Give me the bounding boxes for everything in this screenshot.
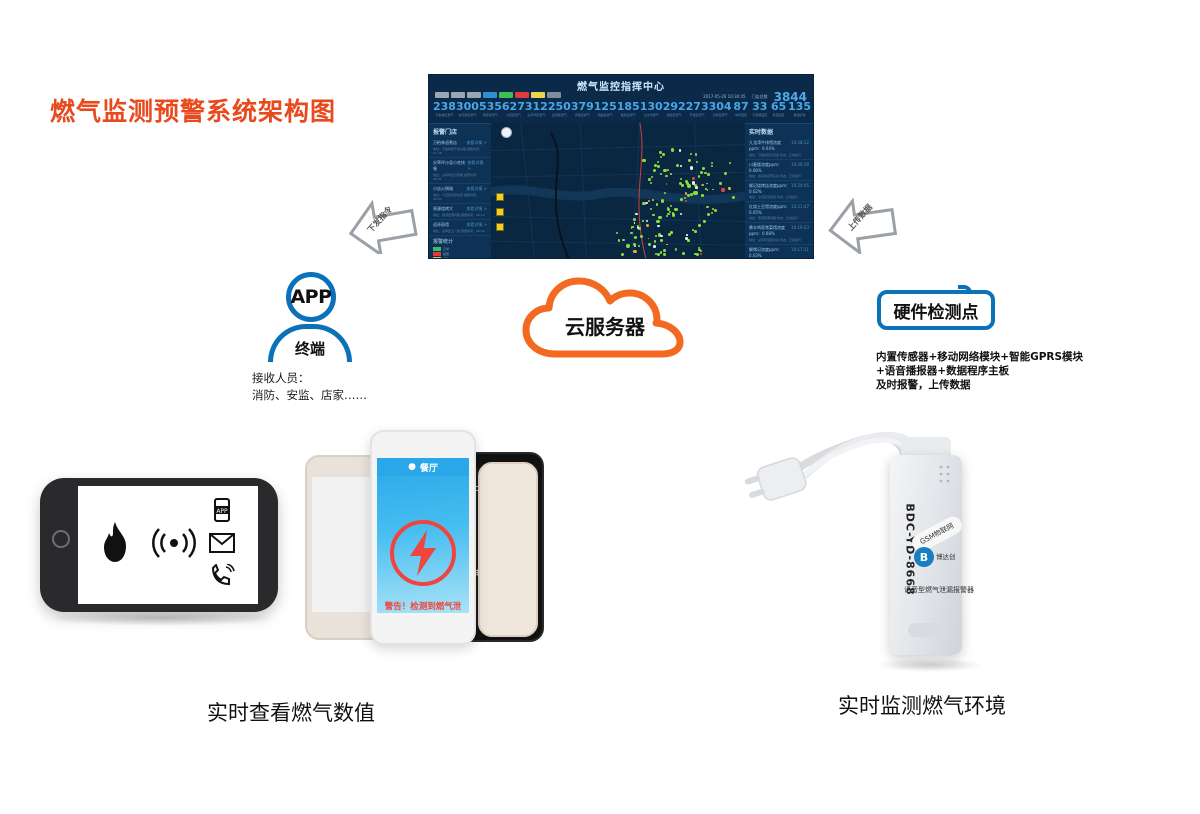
envelope-icon <box>209 533 235 553</box>
map-marker-dot[interactable] <box>664 192 666 194</box>
stat-label: 开发区燃气 <box>686 113 709 118</box>
caption-left: 实时查看燃气数值 <box>207 697 375 727</box>
phone-location-label: 餐厅 <box>420 461 438 474</box>
diagram-canvas: 燃气监测预警系统架构图 燃气监控指挥中心 2017-05-26 10:30:45… <box>0 0 1200 814</box>
map-marker-dot[interactable] <box>721 188 724 191</box>
dashboard-chip-1[interactable] <box>451 92 465 98</box>
alarm-item-title: 尖草坪沙县小吃快餐查看详情 > <box>433 160 487 172</box>
stat-value: 300 <box>456 101 479 113</box>
alarm-item-title: 小店火锅城查看详情 > <box>433 186 487 192</box>
map-marker-dot[interactable] <box>654 240 656 242</box>
dashboard-stat-14[interactable]: 33不锈钢园区 <box>750 101 769 118</box>
caption-right: 实时监测燃气环境 <box>838 690 1006 720</box>
map-marker-dot[interactable] <box>694 191 698 195</box>
realtime-item-detail: 地址：小店区亲贤街 状态：正常运行 <box>749 195 809 199</box>
lightning-bolt-icon <box>394 524 452 582</box>
map-marker-dot[interactable] <box>707 173 710 176</box>
hardware-detection-bubble[interactable]: 硬件检测点 <box>877 290 995 330</box>
dashboard-realtime-panel: 实时数据 九龙湾牛排馆浓度ppm：0.04%10:28:32地址：万柏林区长风街… <box>745 123 813 258</box>
map-marker-dot[interactable] <box>663 249 666 252</box>
stat-label: 阳曲县燃气 <box>594 113 617 118</box>
map-marker-dot[interactable] <box>685 180 688 183</box>
dashboard-stat-10[interactable]: 292综改区燃气 <box>663 101 686 118</box>
dashboard-stat-9[interactable]: 130古交市燃气 <box>640 101 663 118</box>
page-title: 燃气监测预警系统架构图 <box>50 92 336 128</box>
map-marker-dot[interactable] <box>681 184 683 186</box>
alarm-pie-legend: 报警统计 正常报警预警离线 <box>429 236 491 259</box>
stat-value: 312 <box>525 101 548 113</box>
stat-label: 万柏林区燃气 <box>433 113 456 118</box>
stat-label: 高新区燃气 <box>709 113 732 118</box>
map-marker-dot[interactable] <box>687 239 690 242</box>
dashboard-stat-16[interactable]: 135其他区域 <box>788 101 811 118</box>
map-marker-dot[interactable] <box>652 214 654 216</box>
alarm-list-item[interactable]: 尖草坪沙县小吃快餐查看详情 >地址：尖草坪区汾西路 报警时间：08:01 <box>429 158 491 184</box>
map-marker-dot[interactable] <box>674 208 678 212</box>
map-marker-dot[interactable] <box>646 220 648 222</box>
map-marker-dot[interactable] <box>705 188 707 190</box>
stat-label: 学府园区 <box>732 113 751 118</box>
stat-value: 135 <box>788 101 811 113</box>
map-marker-dot[interactable] <box>657 225 659 227</box>
stat-value: 250 <box>548 101 571 113</box>
realtime-item-title: 川客楼浓度ppm：0.06%10:26:19 <box>749 162 809 173</box>
app-terminal-icon[interactable]: APP 终端 <box>268 272 352 362</box>
alarm-item-title: 迎泽面馆查看详情 > <box>433 222 487 228</box>
map-marker-dot[interactable] <box>635 213 637 215</box>
dashboard-stat-2[interactable]: 535晋源区燃气 <box>479 101 502 118</box>
home-button-icon[interactable] <box>52 530 70 548</box>
alarm-item-detail: 地址：尖草坪区汾西路 报警时间：08:01 <box>433 173 487 181</box>
phone-center-alert[interactable]: ● 餐厅 警告！检测到燃气泄漏！ 请检查 <box>370 430 476 645</box>
map-marker-dot[interactable] <box>618 239 620 241</box>
map-marker-dot[interactable] <box>719 182 722 185</box>
map-marker-dot[interactable] <box>670 173 672 175</box>
app-terminal-head-label: APP <box>286 272 336 322</box>
stat-label: 民营园区 <box>769 113 788 118</box>
stat-label: 清徐县燃气 <box>571 113 594 118</box>
map-marker-dot[interactable] <box>630 232 632 234</box>
device-brand-logo-icon: B <box>914 547 934 567</box>
dashboard-stat-12[interactable]: 304高新区燃气 <box>709 101 732 118</box>
stat-label: 迎泽区燃气 <box>548 113 571 118</box>
realtime-list-item[interactable]: 顺记烧烤店浓度ppm：0.02%10:24:05地址：小店区亲贤街 状态：正常运… <box>745 181 813 202</box>
receiver-line-2: 消防、安监、店家…… <box>252 387 367 404</box>
map-marker-dot[interactable] <box>642 220 644 222</box>
left-phone-shadow <box>48 610 278 626</box>
arrow-left-command: 下发指令 <box>346 198 418 254</box>
stat-label: 晋源区燃气 <box>479 113 502 118</box>
alarm-panel-header: 报警门店 <box>429 124 491 138</box>
hardware-desc-line-2: +语音播报器+数据程序主板 <box>876 364 1083 378</box>
realtime-list-item[interactable]: 红烧土豆馆浓度ppm：0.05%10:21:47地址：晋源区晋祠路 状态：正常运… <box>745 202 813 223</box>
receiver-text: 接收人员： 消防、安监、店家…… <box>252 370 367 404</box>
map-marker-dot[interactable] <box>633 243 636 246</box>
device-brand-name: 博达创 <box>936 551 956 561</box>
stat-label: 小店区燃气 <box>502 113 525 118</box>
device-body: BDC-YD-8668 GSM物联网 B 博达创 语音型燃气泄漏报警器 <box>890 455 962 655</box>
dashboard-chip-5[interactable] <box>515 92 529 98</box>
gas-alert-line-2: 请检查 <box>377 612 469 613</box>
dashboard-body: 报警门店 万柏林卤煮店查看详情 >地址：万柏林区千峰北路 报警时间：07:28尖… <box>429 123 813 258</box>
dashboard-map[interactable] <box>491 123 745 258</box>
dashboard-stat-1[interactable]: 300杏花岭区燃气 <box>456 101 479 118</box>
stat-value: 130 <box>640 101 663 113</box>
realtime-item-detail: 地址：杏花岭区府东街 状态：正常运行 <box>749 174 809 178</box>
realtime-list[interactable]: 九龙湾牛排馆浓度ppm：0.04%10:28:32地址：万柏林区长风街 状态：正… <box>745 138 813 259</box>
map-marker-dot[interactable] <box>701 194 704 197</box>
realtime-item-title: 九龙湾牛排馆浓度ppm：0.04%10:28:32 <box>749 140 809 152</box>
realtime-list-item[interactable]: 解馋记浓度ppm：0.03%10:17:11地址：迎泽区桃园路 状态：正常运行 <box>745 245 813 259</box>
map-marker-dot[interactable] <box>694 253 697 256</box>
svg-text:APP: APP <box>216 508 228 515</box>
alarm-item-title: 晋源烧烤大查看详情 > <box>433 206 487 212</box>
alarm-item-detail: 地址：万柏林区千峰北路 报警时间：07:28 <box>433 147 487 155</box>
dashboard-chip-4[interactable] <box>499 92 513 98</box>
map-legend-swatch <box>496 208 504 216</box>
stat-value: 185 <box>617 101 640 113</box>
dashboard-chip-0[interactable] <box>435 92 449 98</box>
alarm-list[interactable]: 万柏林卤煮店查看详情 >地址：万柏林区千峰北路 报警时间：07:28尖草坪沙县小… <box>429 138 491 236</box>
hardware-desc-line-3: 及时报警，上传数据 <box>876 378 1083 392</box>
alarm-item-detail: 地址：小店区亲贤北街 报警时间：08:45 <box>433 193 487 201</box>
map-marker-dot[interactable] <box>653 169 656 172</box>
stat-value: 65 <box>769 101 788 113</box>
pie-legend-entry: 正常 <box>433 247 487 251</box>
realtime-item-title: 顺记烧烤店浓度ppm：0.02%10:24:05 <box>749 183 809 194</box>
pie-legend-entry: 预警 <box>433 257 487 259</box>
gas-detector-device: BDC-YD-8668 GSM物联网 B 博达创 语音型燃气泄漏报警器 <box>735 420 995 670</box>
map-marker-dot[interactable] <box>657 161 659 163</box>
map-marker-dot[interactable] <box>660 239 663 242</box>
map-marker-dot[interactable] <box>655 235 657 237</box>
gas-alert-circle <box>390 520 456 586</box>
stat-label: 不锈钢园区 <box>750 113 769 118</box>
map-legend-swatch <box>496 223 504 231</box>
map-marker-dot[interactable] <box>648 243 651 246</box>
map-marker-dot[interactable] <box>660 251 663 254</box>
realtime-list-item[interactable]: 九龙湾牛排馆浓度ppm：0.04%10:28:32地址：万柏林区长风街 状态：正… <box>745 138 813 160</box>
pie-legend-entry: 报警 <box>433 252 487 256</box>
realtime-panel-header: 实时数据 <box>745 124 813 138</box>
map-marker-dot[interactable] <box>642 202 646 206</box>
map-marker-dot[interactable] <box>633 219 635 221</box>
map-marker-dot[interactable] <box>656 203 658 205</box>
phone-center-screen: ● 餐厅 警告！检测到燃气泄漏！ 请检查 <box>377 458 469 613</box>
dashboard-alarm-panel: 报警门店 万柏林卤煮店查看详情 >地址：万柏林区千峰北路 报警时间：07:28尖… <box>429 123 491 258</box>
map-legend-swatch <box>496 193 504 201</box>
realtime-item-detail: 地址：晋源区晋祠路 状态：正常运行 <box>749 216 809 220</box>
app-phone-icon: APP <box>211 498 233 522</box>
map-marker-dot[interactable] <box>700 253 702 255</box>
hardware-description: 内置传感器+移动网络模块+智能GPRS模块 +语音播报器+数据程序主板 及时报警… <box>876 350 1083 392</box>
map-marker-dot[interactable] <box>702 184 704 186</box>
hardware-desc-line-1: 内置传感器+移动网络模块+智能GPRS模块 <box>876 350 1083 364</box>
alarm-list-item[interactable]: 万柏林卤煮店查看详情 >地址：万柏林区千峰北路 报警时间：07:28 <box>429 138 491 158</box>
alarm-list-item[interactable]: 迎泽面馆查看详情 >地址：迎泽区五一路 报警时间：09:30 <box>429 220 491 236</box>
stat-value: 379 <box>571 101 594 113</box>
dashboard-stat-4[interactable]: 312尖草坪区燃气 <box>525 101 548 118</box>
stat-value: 627 <box>502 101 525 113</box>
flame-icon <box>98 520 132 564</box>
map-marker-dot[interactable] <box>680 165 682 167</box>
map-marker-dot[interactable] <box>680 178 682 180</box>
device-button[interactable] <box>908 623 944 637</box>
map-marker-dot[interactable] <box>656 220 659 223</box>
realtime-item-detail: 地址：尖草坪区柴村街 状态：正常运行 <box>749 238 809 242</box>
map-marker-dot[interactable] <box>700 171 703 174</box>
dashboard-stat-7[interactable]: 125阳曲县燃气 <box>594 101 617 118</box>
stat-value: 87 <box>732 101 751 113</box>
location-pin-icon: ● <box>408 462 416 472</box>
realtime-item-title: 红烧土豆馆浓度ppm：0.05%10:21:47 <box>749 204 809 215</box>
realtime-list-item[interactable]: 川客楼浓度ppm：0.06%10:26:19地址：杏花岭区府东街 状态：正常运行 <box>745 160 813 181</box>
map-marker-dot[interactable] <box>671 148 674 151</box>
map-marker-dot[interactable] <box>648 178 651 181</box>
alarm-list-item[interactable]: 晋源烧烤大查看详情 >地址：晋源区晋祠路 报警时间：09:12 <box>429 204 491 220</box>
landscape-phone-screen: APP <box>78 486 258 604</box>
phone-far-right-gold[interactable] <box>478 462 538 637</box>
dashboard-stat-row: 238万柏林区燃气300杏花岭区燃气535晋源区燃气627小店区燃气312尖草坪… <box>433 101 811 118</box>
map-marker-dot[interactable] <box>666 183 668 185</box>
cloud-server-label: 云服务器 <box>522 276 688 360</box>
alarm-item-detail: 地址：迎泽区五一路 报警时间：09:30 <box>433 229 487 233</box>
alarm-item-detail: 地址：晋源区晋祠路 报警时间：09:12 <box>433 213 487 217</box>
map-marker-dot[interactable] <box>652 199 654 201</box>
map-marker-dot[interactable] <box>663 169 666 172</box>
map-marker-dot[interactable] <box>684 197 686 199</box>
map-marker-dot[interactable] <box>663 253 666 256</box>
stat-value: 273 <box>686 101 709 113</box>
phone-location-header: ● 餐厅 <box>377 458 469 476</box>
map-marker-dot[interactable] <box>657 165 660 168</box>
stat-label: 古交市燃气 <box>640 113 663 118</box>
map-marker-dot[interactable] <box>667 169 669 171</box>
map-marker-dot[interactable] <box>661 199 665 203</box>
map-marker-dot[interactable] <box>686 234 688 236</box>
stat-value: 125 <box>594 101 617 113</box>
app-terminal-body-label: 终端 <box>268 324 352 362</box>
dashboard-stat-6[interactable]: 379清徐县燃气 <box>571 101 594 118</box>
map-marker-dot[interactable] <box>687 184 691 188</box>
stat-label: 杏花岭区燃气 <box>456 113 479 118</box>
stat-label: 综改区燃气 <box>663 113 686 118</box>
realtime-list-item[interactable]: 鼎丰鸡家常菜馆浓度ppm：0.08%10:19:33地址：尖草坪区柴村街 状态：… <box>745 223 813 245</box>
alarm-legend-title: 报警统计 <box>433 238 487 245</box>
receiver-line-1: 接收人员： <box>252 370 367 387</box>
map-marker-dot[interactable] <box>688 159 691 162</box>
stat-value: 238 <box>433 101 456 113</box>
map-marker-dot[interactable] <box>706 206 709 209</box>
ringing-phone-icon <box>209 564 235 588</box>
dashboard-chip-2[interactable] <box>467 92 481 98</box>
map-marker-dot[interactable] <box>680 198 683 201</box>
map-marker-dot[interactable] <box>670 231 673 234</box>
stat-value: 33 <box>750 101 769 113</box>
map-marker-dot[interactable] <box>694 230 697 233</box>
dashboard-stat-8[interactable]: 185娄烦县燃气 <box>617 101 640 118</box>
stat-label: 娄烦县燃气 <box>617 113 640 118</box>
alarm-list-item[interactable]: 小店火锅城查看详情 >地址：小店区亲贤北街 报警时间：08:45 <box>429 184 491 204</box>
dashboard-chip-row <box>435 92 561 98</box>
dashboard-stat-15[interactable]: 65民营园区 <box>769 101 788 118</box>
realtime-item-title: 解馋记浓度ppm：0.03%10:17:11 <box>749 247 809 258</box>
map-marker-dot[interactable] <box>653 245 656 248</box>
dashboard-chip-6[interactable] <box>531 92 545 98</box>
dashboard-stat-3[interactable]: 627小店区燃气 <box>502 101 525 118</box>
stat-label: 尖草坪区燃气 <box>525 113 548 118</box>
map-marker-dot[interactable] <box>711 212 713 214</box>
dashboard-screen: 燃气监控指挥中心 2017-05-26 10:30:45 门店总数 3844 2… <box>428 74 814 259</box>
dashboard-chip-7[interactable] <box>547 92 561 98</box>
realtime-item-detail: 地址：万柏林区长风街 状态：正常运行 <box>749 153 809 157</box>
stat-value: 292 <box>663 101 686 113</box>
device-vent-holes-icon <box>936 463 956 485</box>
stat-value: 304 <box>709 101 732 113</box>
map-marker-dot[interactable] <box>724 172 727 175</box>
map-marker-dot[interactable] <box>672 213 676 217</box>
device-subtitle: 语音型燃气泄漏报警器 <box>904 585 974 595</box>
stat-value: 535 <box>479 101 502 113</box>
dashboard-stat-13[interactable]: 87学府园区 <box>732 101 751 118</box>
signal-waves-icon <box>150 526 198 560</box>
stat-label: 其他区域 <box>788 113 811 118</box>
map-marker-dot[interactable] <box>621 253 624 256</box>
arrow-right-upload: 上传数据 <box>826 198 898 254</box>
alarm-item-title: 万柏林卤煮店查看详情 > <box>433 140 487 146</box>
landscape-phone[interactable]: APP <box>40 478 278 612</box>
dashboard-stat-11[interactable]: 273开发区燃气 <box>686 101 709 118</box>
cloud-server-icon[interactable]: 云服务器 <box>522 276 688 360</box>
dashboard-chip-3[interactable] <box>483 92 497 98</box>
dashboard-stat-5[interactable]: 250迎泽区燃气 <box>548 101 571 118</box>
realtime-item-title: 鼎丰鸡家常菜馆浓度ppm：0.08%10:19:33 <box>749 225 809 237</box>
dashboard-stat-0[interactable]: 238万柏林区燃气 <box>433 101 456 118</box>
